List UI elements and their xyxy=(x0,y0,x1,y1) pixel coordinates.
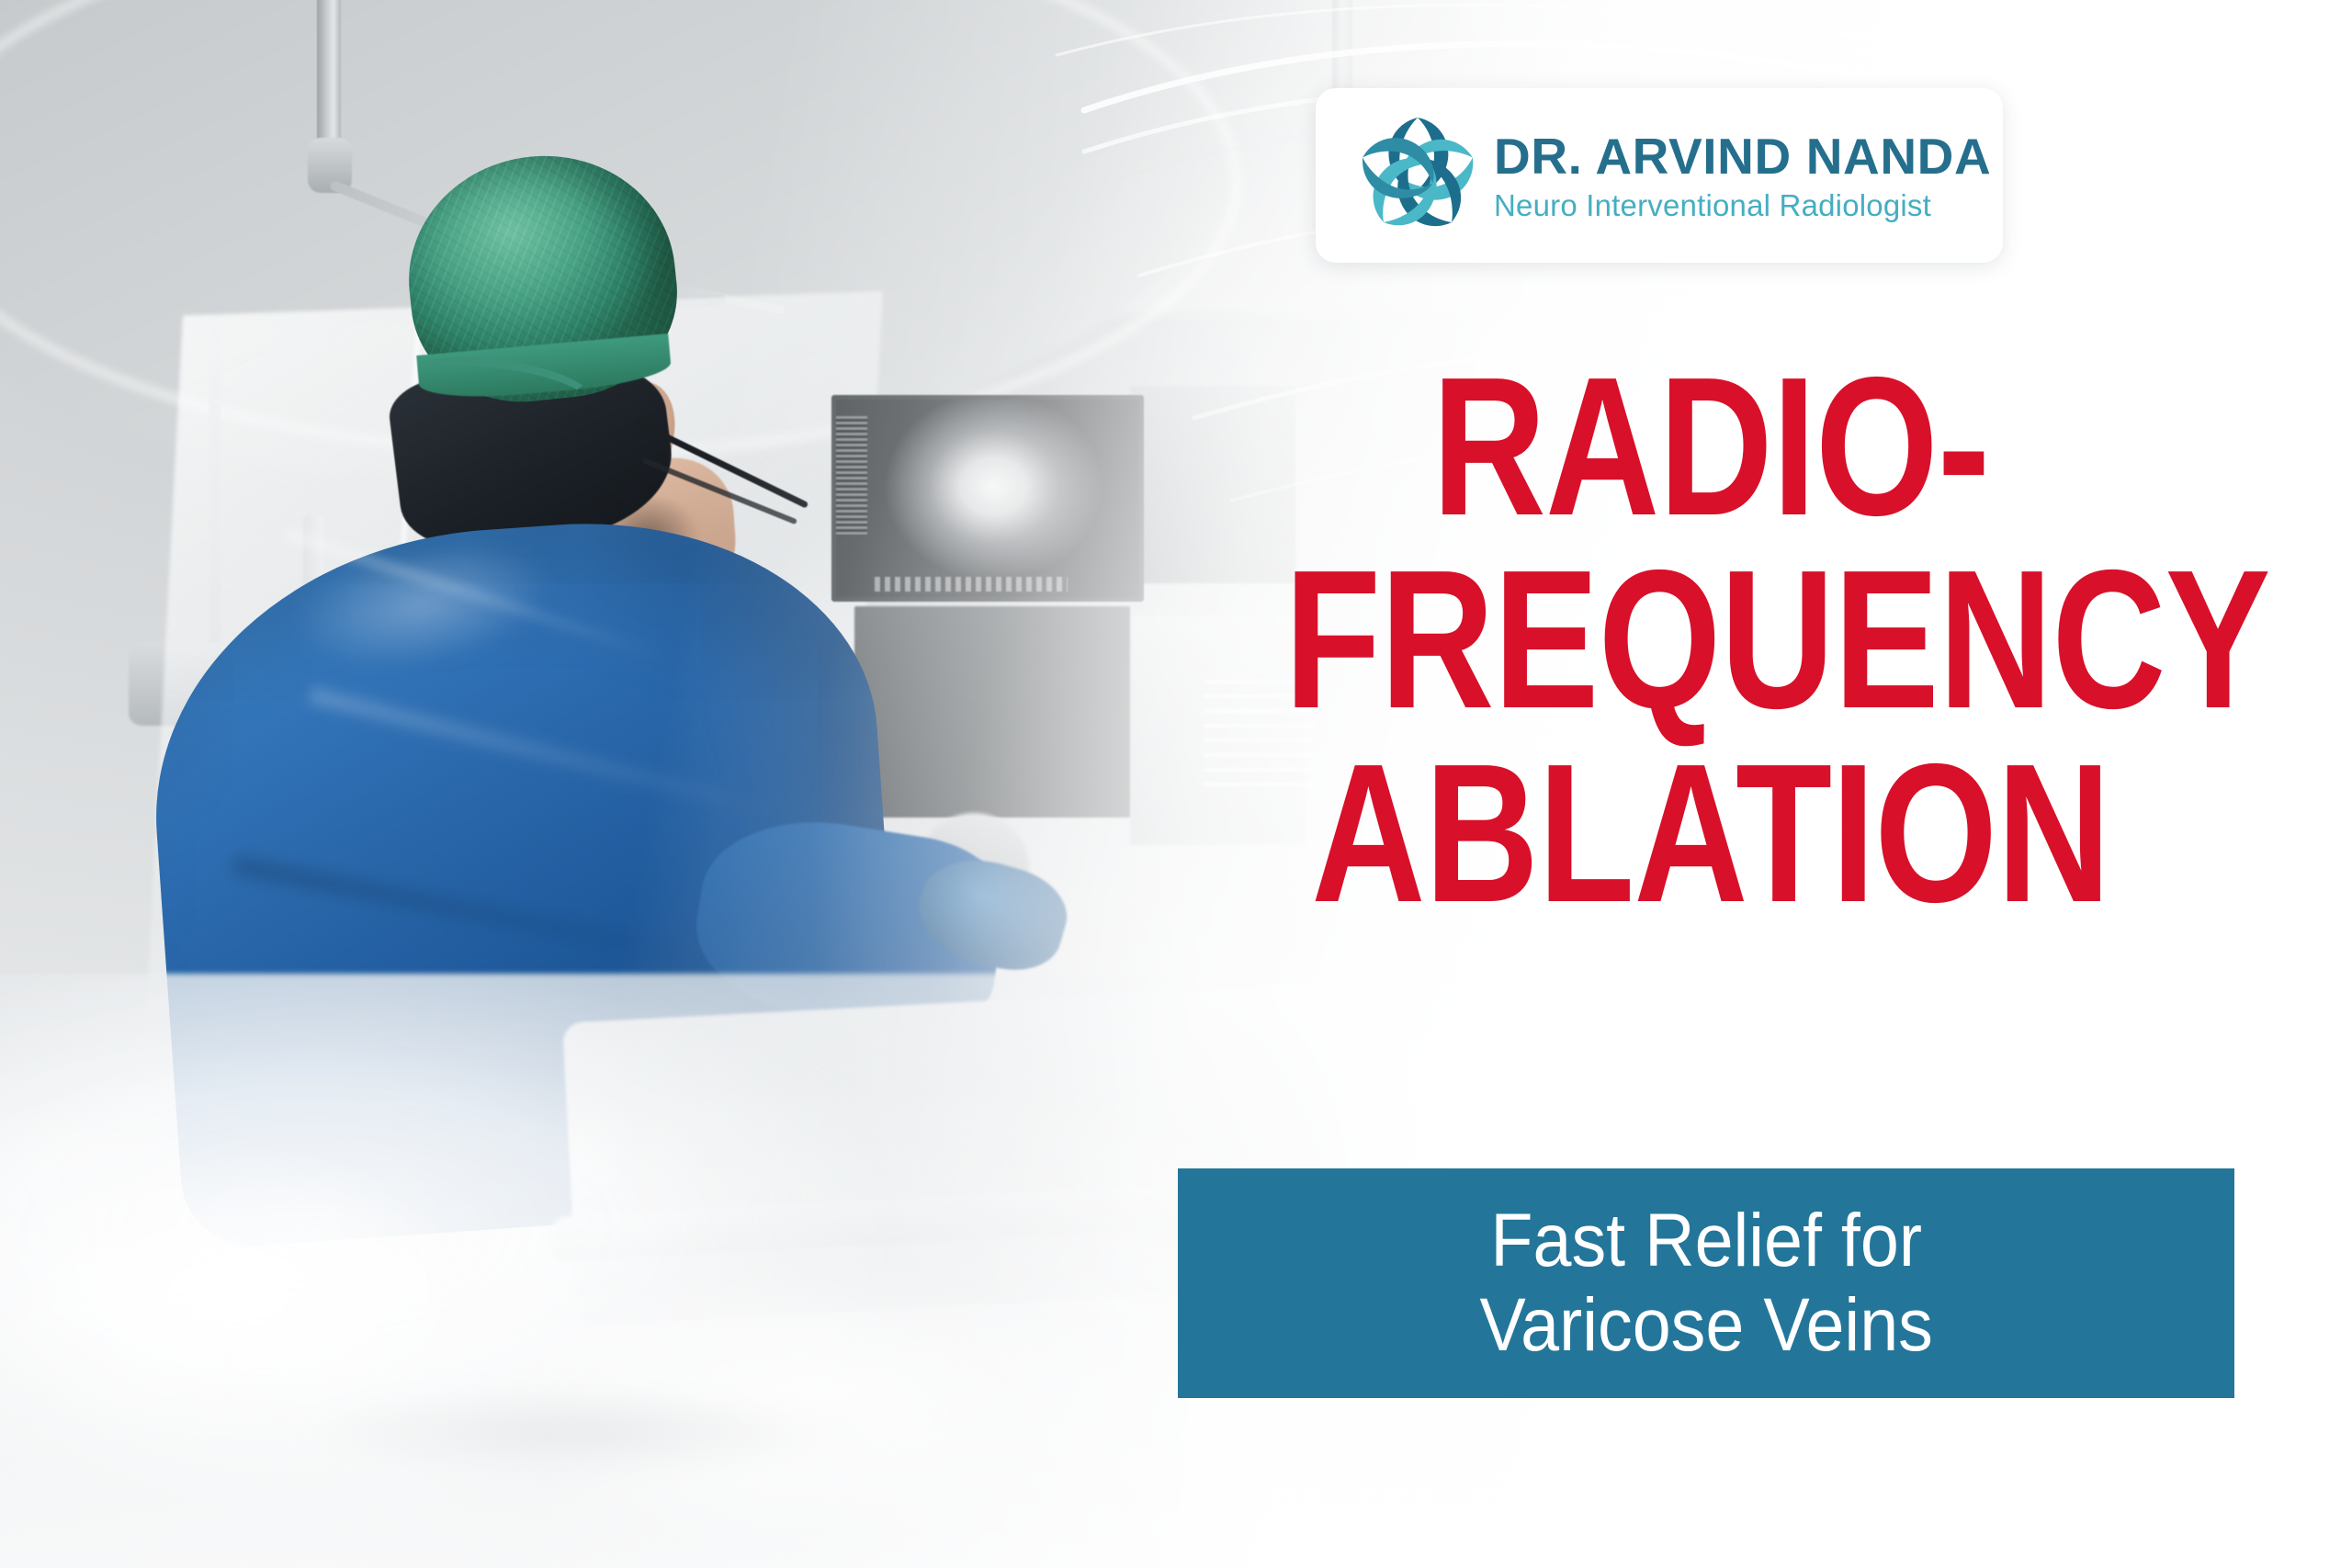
monitor-sidebar-scale xyxy=(836,416,867,536)
foreground-shadow xyxy=(184,1378,1011,1488)
headline-line-3: ABLATION xyxy=(1284,752,2137,914)
ceiling-pendant-arm xyxy=(317,0,341,152)
brand-lockup-text: DR. ARVIND NANDA Neuro Interventional Ra… xyxy=(1494,131,1991,220)
subtitle-line-2: Varicose Veins xyxy=(1479,1283,1932,1368)
promo-banner: T21 DR. ARVIND NAN xyxy=(0,0,2352,1568)
monitor-status-strip xyxy=(875,577,1068,592)
brand-name: DR. ARVIND NANDA xyxy=(1494,131,1991,182)
angiogram-image xyxy=(836,400,1139,597)
brand-tagline: Neuro Interventional Radiologist xyxy=(1494,190,1991,220)
five-petal-pinwheel-icon xyxy=(1347,107,1488,244)
headline-line-1: RADIO- xyxy=(1284,366,2137,527)
subtitle-line-1: Fast Relief for xyxy=(1490,1199,1922,1283)
headline: RADIO- FREQUENCY ABLATION xyxy=(1284,366,2137,914)
angiography-monitor xyxy=(831,395,1144,602)
brand-logo-badge[interactable]: DR. ARVIND NANDA Neuro Interventional Ra… xyxy=(1316,88,2003,263)
auxiliary-monitor-upper xyxy=(1130,386,1295,583)
subtitle-banner: Fast Relief for Varicose Veins xyxy=(1178,1168,2234,1398)
headline-line-2: FREQUENCY xyxy=(1284,558,2137,720)
secondary-display xyxy=(854,606,1130,818)
